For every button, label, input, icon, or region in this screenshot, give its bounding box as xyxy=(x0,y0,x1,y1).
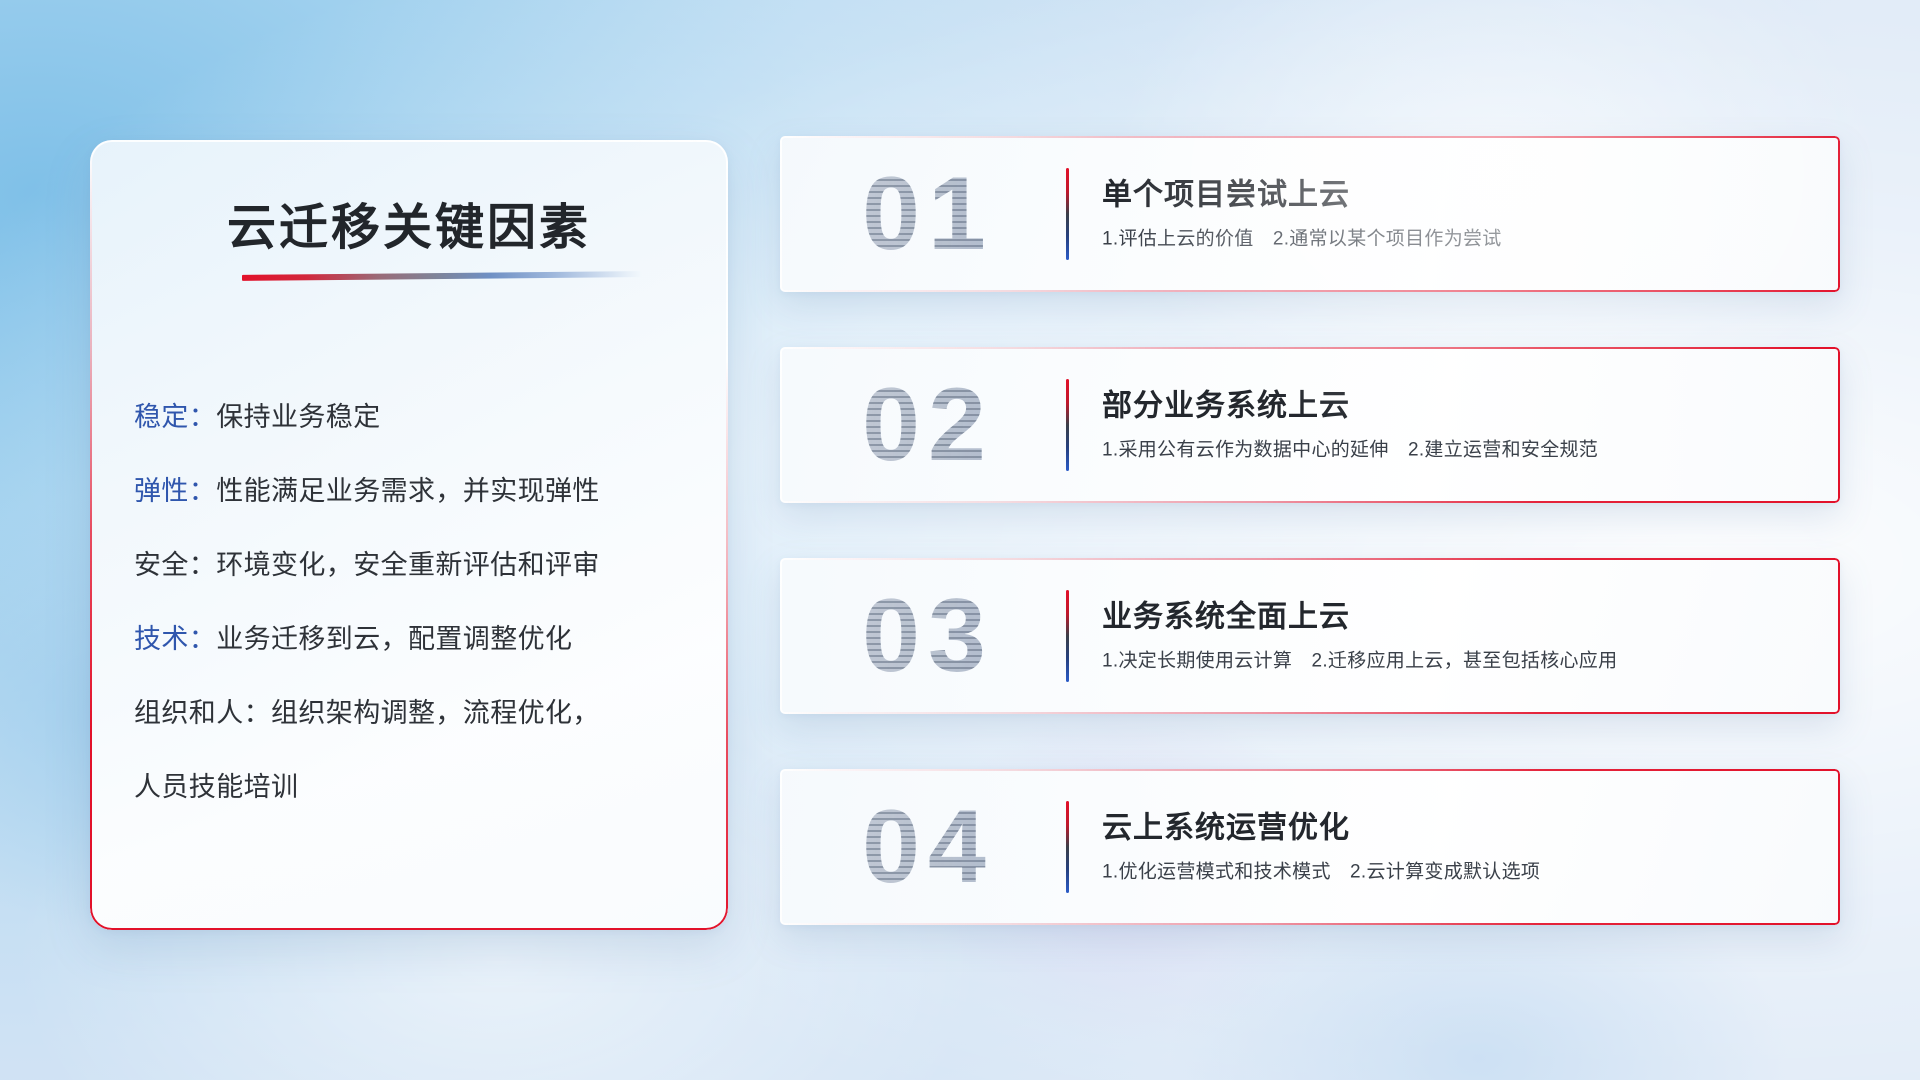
step-card-03[interactable]: 03 业务系统全面上云 1.决定长期使用云计算 2.迁移应用上云，甚至包括核心应… xyxy=(780,558,1840,714)
step-card-04[interactable]: 04 云上系统运营优化 1.优化运营模式和技术模式 2.云计算变成默认选项 xyxy=(780,769,1840,925)
step-text-block: 单个项目尝试上云 1.评估上云的价值 2.通常以某个项目作为尝试 xyxy=(1102,176,1816,251)
step-accent-bar xyxy=(1066,801,1069,893)
step-description: 1.评估上云的价值 2.通常以某个项目作为尝试 xyxy=(1102,227,1816,252)
factor-label: 技术： xyxy=(134,624,216,654)
page-title: 云迁移关键因素 xyxy=(90,188,728,259)
factor-value: 性能满足业务需求，并实现弹性 xyxy=(216,476,600,506)
step-number: 04 xyxy=(806,788,1050,906)
step-title: 云上系统运营优化 xyxy=(1102,809,1816,847)
title-underline-rule xyxy=(242,271,642,281)
factor-value: 业务迁移到云，配置调整优化 xyxy=(216,624,572,654)
factor-item: 弹性：性能满足业务需求，并实现弹性 xyxy=(134,454,698,528)
factor-label: 稳定： xyxy=(134,402,216,432)
step-card-01[interactable]: 01 单个项目尝试上云 1.评估上云的价值 2.通常以某个项目作为尝试 xyxy=(780,136,1840,292)
factor-value: 环境变化，安全重新评估和评审 xyxy=(216,550,600,580)
factor-label: 安全： xyxy=(134,550,216,580)
factor-item: 安全：环境变化，安全重新评估和评审 xyxy=(134,528,698,602)
factor-label: 组织和人： xyxy=(134,698,271,728)
step-description: 1.决定长期使用云计算 2.迁移应用上云，甚至包括核心应用 xyxy=(1102,649,1816,674)
factor-value: 人员技能培训 xyxy=(134,772,298,802)
factor-item-continuation: 人员技能培训 xyxy=(134,750,698,824)
step-title: 业务系统全面上云 xyxy=(1102,598,1816,636)
step-text-block: 云上系统运营优化 1.优化运营模式和技术模式 2.云计算变成默认选项 xyxy=(1102,809,1816,884)
factor-list: 稳定：保持业务稳定 弹性：性能满足业务需求，并实现弹性 安全：环境变化，安全重新… xyxy=(134,380,698,824)
step-number: 03 xyxy=(806,577,1050,695)
step-accent-bar xyxy=(1066,168,1069,260)
factor-label: 弹性： xyxy=(134,476,216,506)
factor-item: 组织和人：组织架构调整，流程优化， xyxy=(134,676,698,750)
factor-value: 组织架构调整，流程优化， xyxy=(271,698,600,728)
step-text-block: 业务系统全面上云 1.决定长期使用云计算 2.迁移应用上云，甚至包括核心应用 xyxy=(1102,598,1816,673)
factor-value: 保持业务稳定 xyxy=(216,402,380,432)
step-description: 1.优化运营模式和技术模式 2.云计算变成默认选项 xyxy=(1102,860,1816,885)
step-number: 01 xyxy=(806,155,1050,273)
step-title: 部分业务系统上云 xyxy=(1102,387,1816,425)
factor-item: 技术：业务迁移到云，配置调整优化 xyxy=(134,602,698,676)
migration-steps-list: 01 单个项目尝试上云 1.评估上云的价值 2.通常以某个项目作为尝试 02 部… xyxy=(780,136,1840,925)
step-number: 02 xyxy=(806,366,1050,484)
step-description: 1.采用公有云作为数据中心的延伸 2.建立运营和安全规范 xyxy=(1102,438,1816,463)
slide-canvas: 云迁移关键因素 稳定：保持业务稳定 弹性：性能满足业务需求，并实现弹性 安全：环… xyxy=(0,0,1920,1080)
step-text-block: 部分业务系统上云 1.采用公有云作为数据中心的延伸 2.建立运营和安全规范 xyxy=(1102,387,1816,462)
factor-item: 稳定：保持业务稳定 xyxy=(134,380,698,454)
step-title: 单个项目尝试上云 xyxy=(1102,176,1816,214)
step-accent-bar xyxy=(1066,590,1069,682)
step-accent-bar xyxy=(1066,379,1069,471)
step-card-02[interactable]: 02 部分业务系统上云 1.采用公有云作为数据中心的延伸 2.建立运营和安全规范 xyxy=(780,347,1840,503)
key-factors-panel: 云迁移关键因素 稳定：保持业务稳定 弹性：性能满足业务需求，并实现弹性 安全：环… xyxy=(90,140,728,930)
